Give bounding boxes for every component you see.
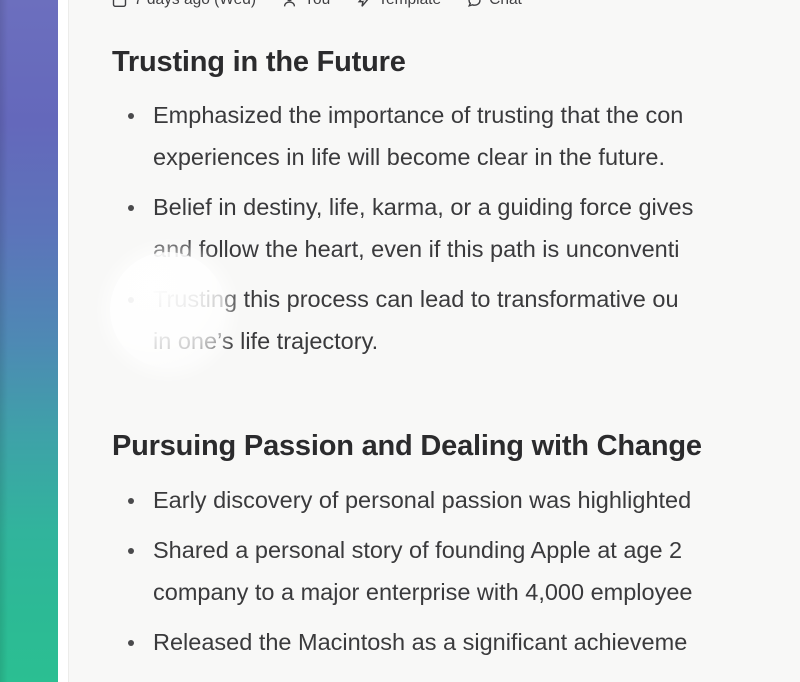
meta-item-date[interactable]: 7 days ago (Wed) [112, 0, 256, 8]
list-item-line: Belief in destiny, life, karma, or a gui… [153, 186, 800, 228]
meta-item-chat[interactable]: Chat [467, 0, 522, 8]
page-title-section-1: Trusting in the Future [112, 44, 800, 80]
list-item: Belief in destiny, life, karma, or a gui… [112, 186, 800, 270]
list-item-line: Trusting this process can lead to transf… [153, 278, 800, 320]
list-item-line: Shared a personal story of founding Appl… [153, 529, 800, 571]
bullet-dot-icon [128, 113, 134, 119]
list-item: Released the Macintosh as a significant … [112, 621, 800, 663]
list-item-line: and follow the heart, even if this path … [153, 228, 800, 270]
document-card: 7 days ago (Wed) You Template [68, 0, 800, 682]
meta-label-template: Template [378, 0, 441, 8]
bullet-list-section-2: Early discovery of personal passion was … [112, 479, 800, 663]
document-meta-bar: 7 days ago (Wed) You Template [68, 0, 800, 14]
bullet-dot-icon [128, 297, 134, 303]
chat-bubble-icon [467, 0, 482, 8]
section-spacer [112, 370, 800, 428]
list-item-line: Released the Macintosh as a significant … [153, 621, 800, 663]
app-window: 7 days ago (Wed) You Template [0, 0, 800, 682]
list-item-line: in one’s life trajectory. [153, 320, 800, 362]
meta-item-author[interactable]: You [282, 0, 330, 8]
meta-label-chat: Chat [489, 0, 522, 8]
bullet-dot-icon [128, 498, 134, 504]
list-item: Shared a personal story of founding Appl… [112, 529, 800, 613]
list-item-line: experiences in life will become clear in… [153, 136, 800, 178]
meta-label-date: 7 days ago (Wed) [134, 0, 256, 8]
meta-item-template[interactable]: Template [356, 0, 441, 8]
calendar-icon [112, 0, 127, 8]
list-item: Early discovery of personal passion was … [112, 479, 800, 521]
page-title-section-2: Pursuing Passion and Dealing with Change [112, 428, 800, 464]
document-body: Trusting in the Future Emphasized the im… [112, 44, 800, 671]
meta-label-author: You [304, 0, 330, 8]
bullet-dot-icon [128, 548, 134, 554]
bullet-dot-icon [128, 640, 134, 646]
bullet-list-section-1: Emphasized the importance of trusting th… [112, 94, 800, 362]
list-item-line: company to a major enterprise with 4,000… [153, 571, 800, 613]
list-item: Emphasized the importance of trusting th… [112, 94, 800, 178]
rail-gap [58, 0, 68, 682]
document-card-left-edge [68, 0, 69, 682]
list-item-line: Emphasized the importance of trusting th… [153, 94, 800, 136]
template-icon [356, 0, 371, 8]
bullet-dot-icon [128, 205, 134, 211]
list-item-line: Early discovery of personal passion was … [153, 479, 800, 521]
person-icon [282, 0, 297, 8]
rail-inner-shadow [0, 0, 8, 682]
sidebar-gradient-rail [0, 0, 58, 682]
list-item: Trusting this process can lead to transf… [112, 278, 800, 362]
